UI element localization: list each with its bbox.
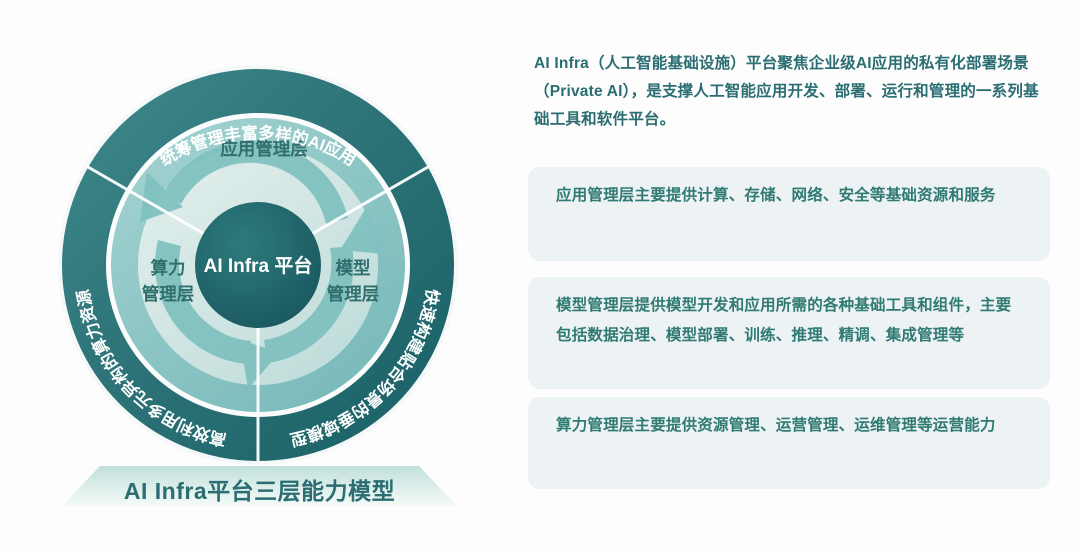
page-root: AI Infra 平台 应用管理层 模型 管理层 算力 管理层 统筹管理丰富多样…: [0, 0, 1080, 551]
info-card-application: 应用管理层主要提供计算、存储、网络、安全等基础资源和服务: [528, 167, 1050, 261]
intro-paragraph: AI Infra（人工智能基础设施）平台聚焦企业级AI应用的私有化部署场景（Pr…: [534, 50, 1042, 134]
info-card-model: 模型管理层提供模型开发和应用所需的各种基础工具和组件，主要包括数据治理、模型部署…: [528, 277, 1050, 389]
three-layer-wheel: AI Infra 平台 应用管理层 模型 管理层 算力 管理层 统筹管理丰富多样…: [52, 22, 472, 492]
banner-title-text: AI Infra平台三层能力模型: [62, 466, 457, 510]
layer-label-compute-line2: 管理层: [142, 284, 195, 304]
layer-label-model-line1: 模型: [336, 258, 371, 278]
info-card-compute: 算力管理层主要提供资源管理、运营管理、运维管理等运营能力: [528, 397, 1050, 489]
center-hub-label: AI Infra 平台: [204, 254, 313, 277]
model-title-banner: AI Infra平台三层能力模型: [62, 466, 457, 510]
description-panel: AI Infra（人工智能基础设施）平台聚焦企业级AI应用的私有化部署场景（Pr…: [528, 0, 1068, 551]
layer-label-compute-line1: 算力: [150, 258, 186, 278]
layer-label-model-line2: 管理层: [327, 284, 380, 304]
capability-model-diagram: AI Infra 平台 应用管理层 模型 管理层 算力 管理层 统筹管理丰富多样…: [0, 0, 510, 551]
